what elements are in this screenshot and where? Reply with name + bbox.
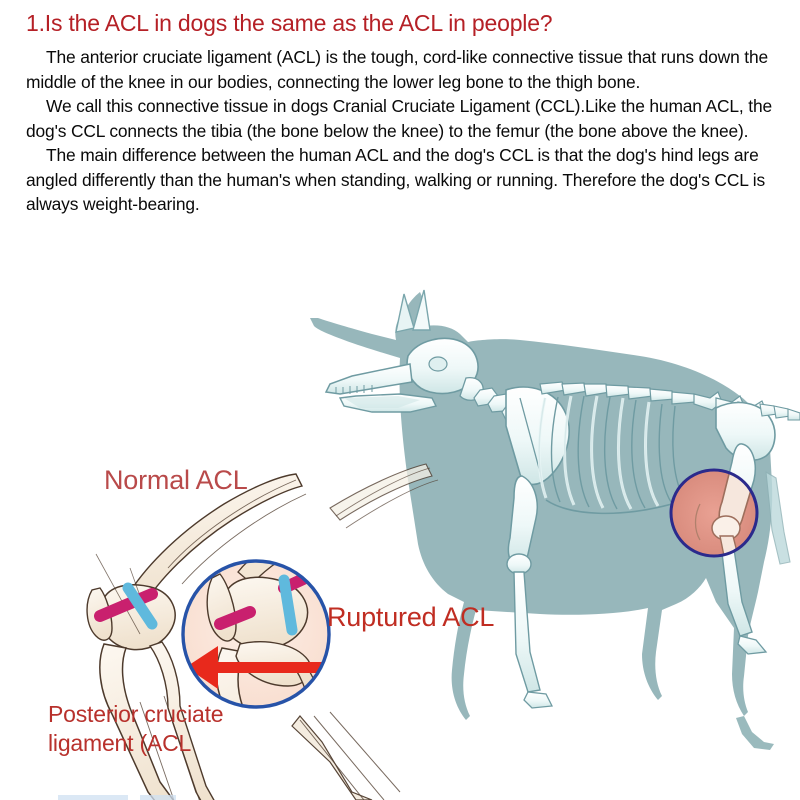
- page-title: 1.Is the ACL in dogs the same as the ACL…: [0, 0, 800, 40]
- label-ruptured-acl: Ruptured ACL: [327, 602, 494, 633]
- label-normal-acl: Normal ACL: [104, 465, 248, 496]
- article-text-block: 1.Is the ACL in dogs the same as the ACL…: [0, 0, 800, 217]
- label-posterior-cruciate-ligament: Posterior cruciate ligament (ACL: [48, 700, 223, 758]
- bottom-artifact: [58, 795, 128, 800]
- bottom-artifact-2: [140, 795, 176, 800]
- paragraph-1: The anterior cruciate ligament (ACL) is …: [0, 40, 800, 94]
- anatomy-figure: Normal ACL Ruptured ACL Posterior crucia…: [0, 272, 800, 800]
- paragraph-2: We call this connective tissue in dogs C…: [0, 94, 800, 143]
- dog-skeleton-illustration: [310, 290, 800, 750]
- paragraph-3: The main difference between the human AC…: [0, 143, 800, 217]
